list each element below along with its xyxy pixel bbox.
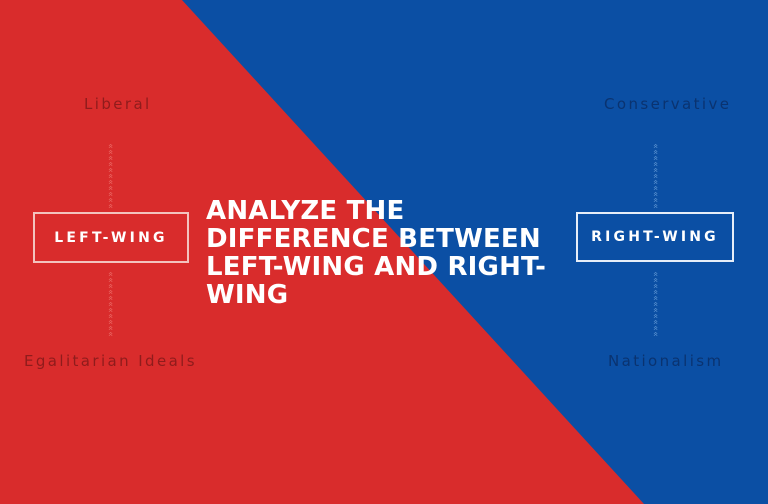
- left-top-caption: Liberal: [84, 95, 152, 113]
- right-wing-box-label: RIGHT-WING: [591, 229, 719, 245]
- left-bottom-caption: Egalitarian Ideals: [24, 352, 197, 370]
- right-bottom-caption: Nationalism: [608, 352, 724, 370]
- left-wing-box: LEFT-WING: [33, 212, 189, 263]
- page-title: ANALYZE THE DIFFERENCE BETWEEN LEFT-WING…: [206, 197, 562, 309]
- right-top-caption: Conservative: [604, 95, 731, 113]
- infographic-canvas: Liberal «««« «««« ««« LEFT-WING «««« «««…: [0, 0, 768, 504]
- right-wing-box: RIGHT-WING: [576, 212, 734, 262]
- left-wing-box-label: LEFT-WING: [54, 230, 167, 246]
